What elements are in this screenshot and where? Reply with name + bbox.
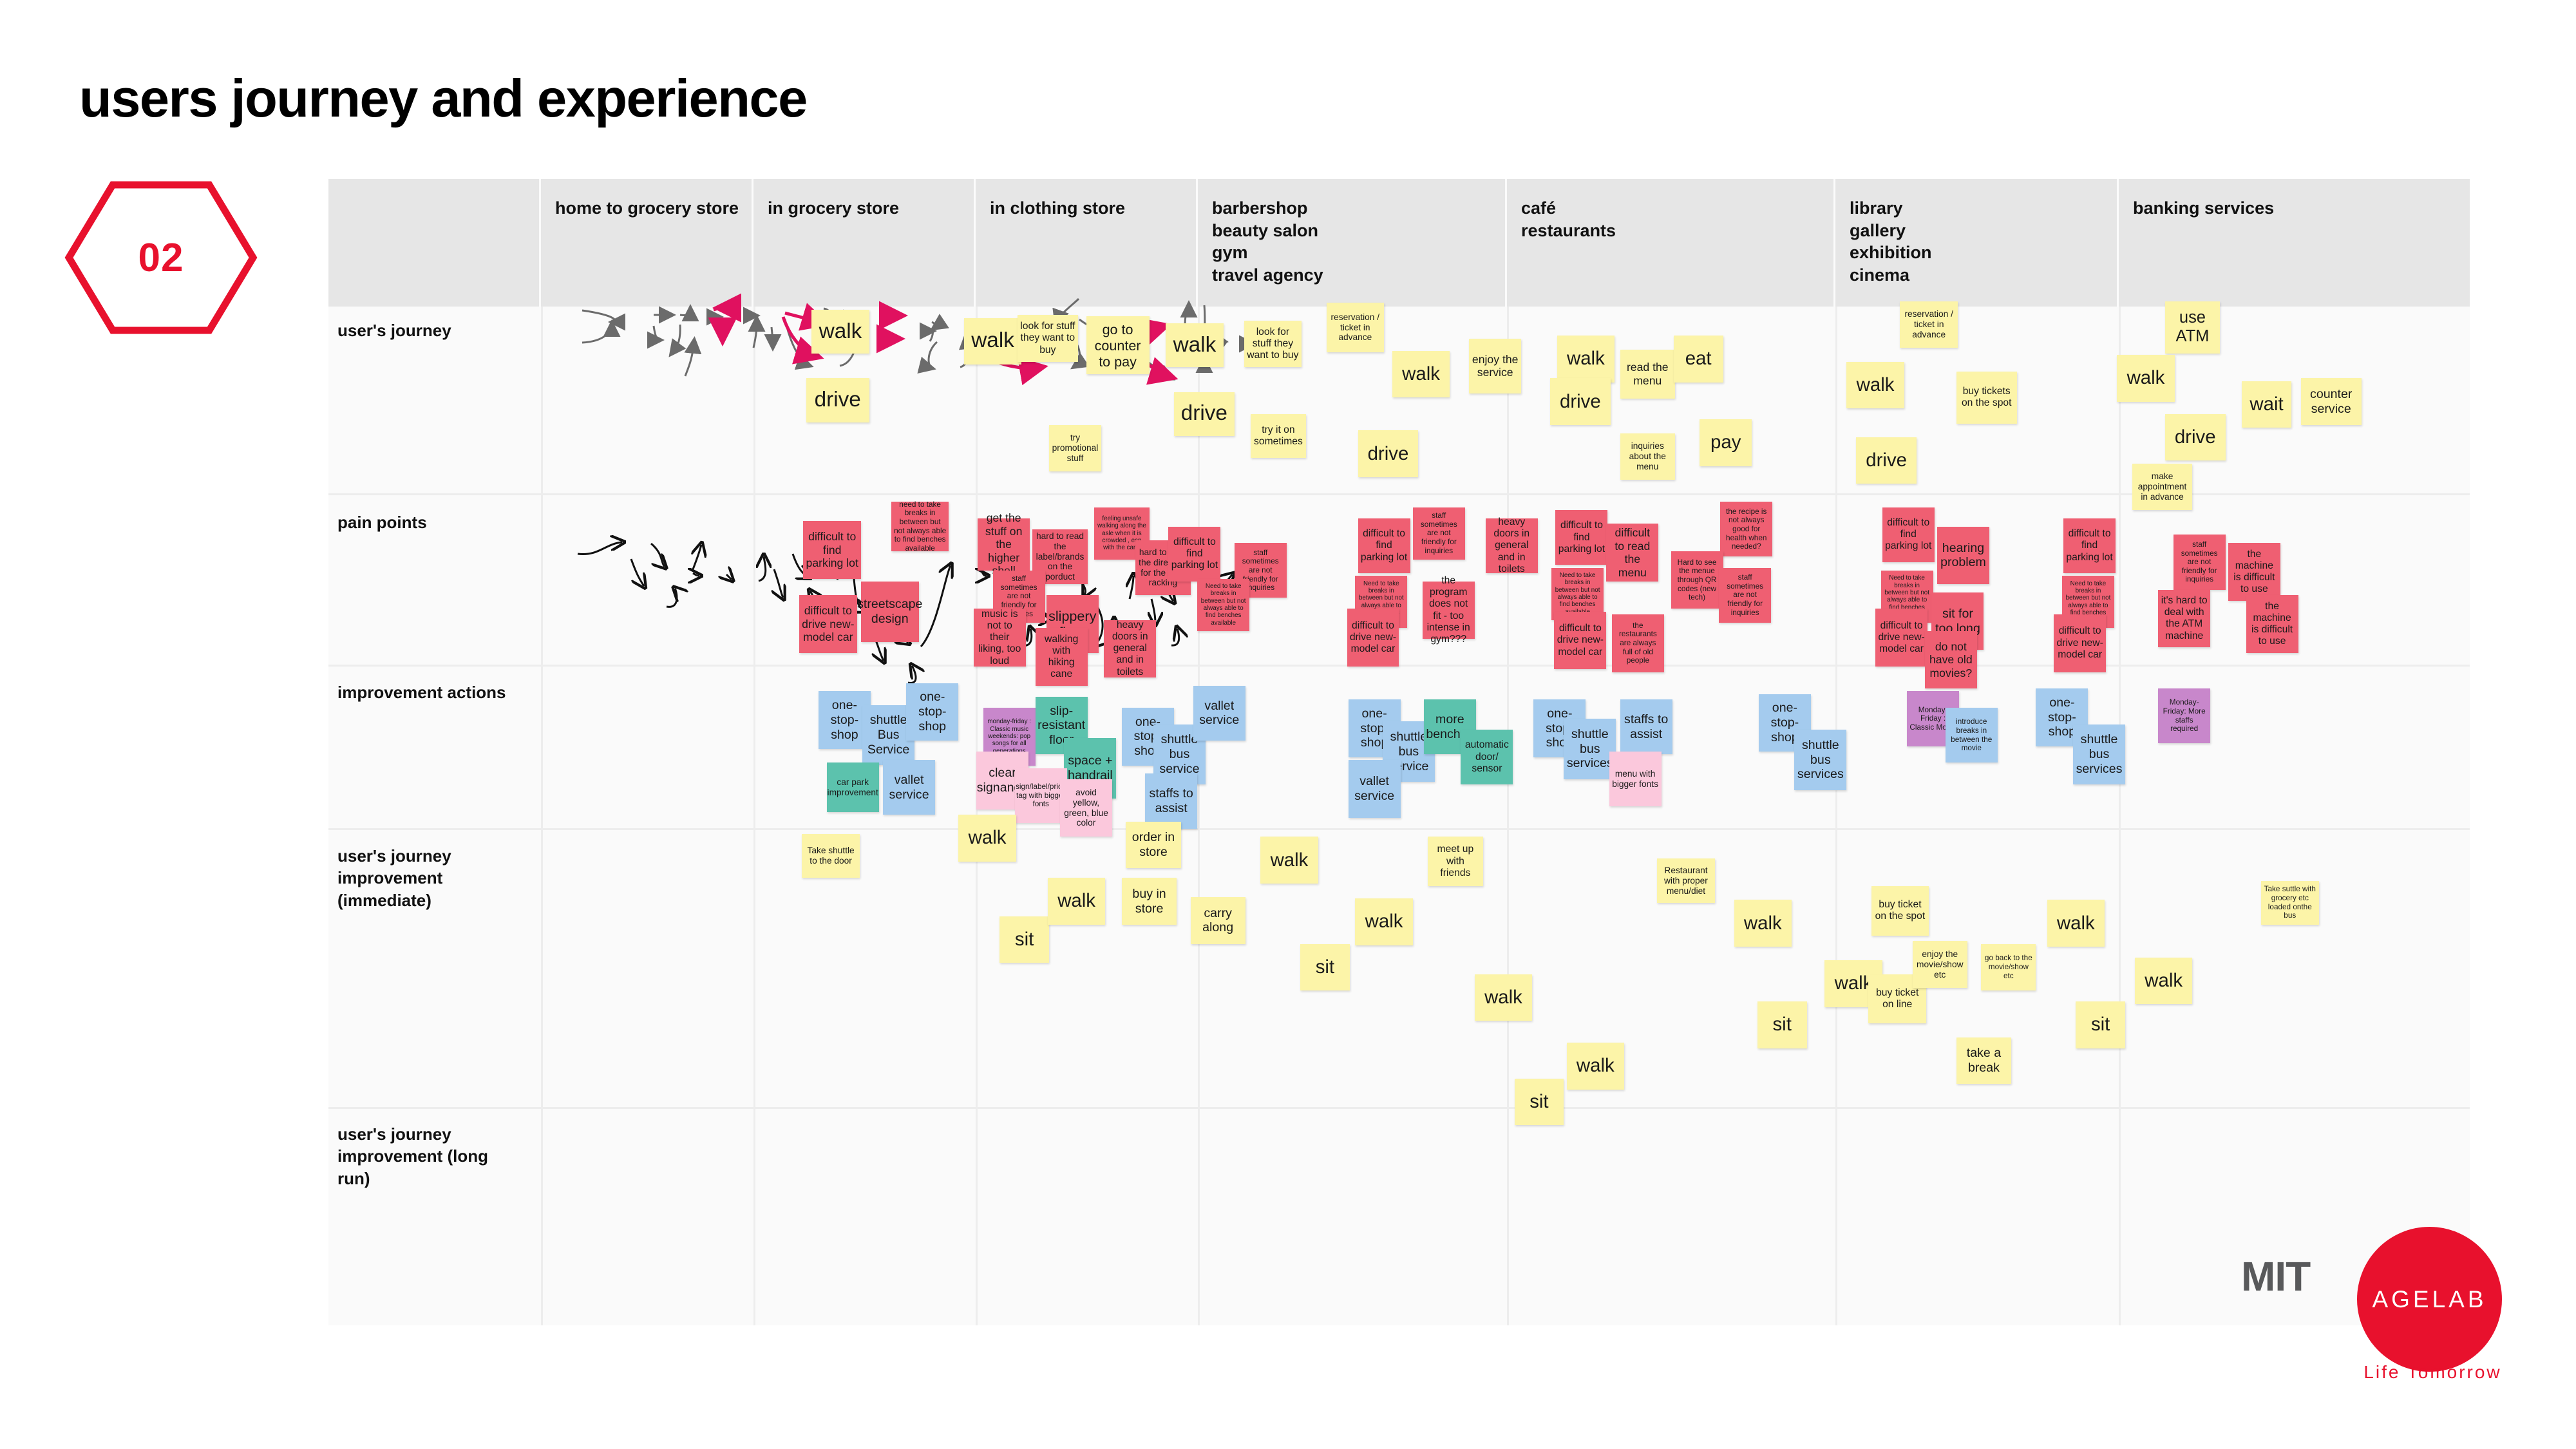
grid-divider (1507, 307, 1509, 1325)
journey-note[interactable]: walk (1166, 323, 1224, 367)
journey-note[interactable]: drive (806, 378, 869, 422)
improvement-note[interactable]: automatic door/ sensor (1461, 730, 1513, 784)
pain-point-note[interactable]: difficult to find parking lot (1168, 527, 1220, 582)
journey-note[interactable]: wait (2242, 381, 2291, 428)
journey-note[interactable]: drive (2165, 414, 2226, 460)
pain-point-note[interactable]: heavy doors in general and in toilets (1104, 620, 1156, 678)
immediate-journey-note[interactable]: sit (1515, 1079, 1564, 1125)
improvement-note[interactable]: shuttle bus services (1794, 730, 1846, 790)
journey-note[interactable]: reservation / ticket in advance (1327, 303, 1385, 352)
page-title: users journey and experience (79, 68, 807, 129)
pain-point-note[interactable]: the machine is difficult to use (2228, 543, 2280, 601)
immediate-journey-note[interactable]: buy in store (1122, 878, 1177, 924)
immediate-journey-note[interactable]: walk (1260, 837, 1318, 883)
section-number: 02 (64, 177, 258, 338)
immediate-journey-note[interactable]: walk (2047, 900, 2105, 946)
section-number-badge: 02 (64, 177, 258, 338)
journey-note[interactable]: drive (1174, 392, 1235, 436)
improvement-note[interactable]: introduce breaks in between the movie (1946, 708, 1998, 762)
improvement-note[interactable]: shuttle bus services (2073, 724, 2125, 785)
improvement-note[interactable]: menu with bigger fonts (1609, 752, 1662, 806)
journey-note[interactable]: inquiries about the menu (1620, 433, 1675, 480)
improvement-note[interactable]: staffs to assist (1620, 699, 1672, 754)
improvement-note[interactable]: shuttle bus services (1564, 719, 1616, 779)
row-label-users-journey: user's journey (337, 319, 531, 341)
pain-point-note[interactable]: difficult to drive new-model car (1875, 609, 1927, 667)
journey-note[interactable]: pay (1700, 419, 1752, 466)
grid-divider (328, 665, 2470, 667)
journey-note[interactable]: go to counter to pay (1086, 316, 1150, 374)
immediate-journey-note[interactable]: Take suttle with grocery etc loaded onth… (2261, 881, 2319, 925)
immediate-journey-note[interactable]: sit (1300, 944, 1350, 990)
journey-note[interactable]: try it on sometimes (1251, 414, 1305, 458)
immediate-journey-note[interactable]: meet up with friends (1428, 837, 1482, 886)
pain-point-note[interactable]: do not have old movies? (1925, 631, 1977, 689)
immediate-journey-note[interactable]: carry along (1191, 897, 1245, 943)
journey-note[interactable]: try promotional stuff (1049, 425, 1101, 471)
row-label-journey-improvement-immediate: user's journeyimprovement(immediate) (337, 845, 531, 911)
pain-point-note[interactable]: hearing problem (1937, 527, 1989, 585)
journey-note[interactable]: buy tickets on the spot (1956, 372, 2017, 424)
pain-point-note[interactable]: streetscape design (861, 582, 919, 642)
journey-note[interactable]: counter service (2301, 378, 2362, 424)
grid-divider (2119, 307, 2121, 1325)
immediate-journey-note[interactable]: walk (1048, 878, 1106, 924)
pain-point-note[interactable]: difficult to drive new-model car (2054, 614, 2106, 672)
pain-point-note[interactable]: staff sometimes are not friendly for inq… (2173, 535, 2226, 589)
immediate-journey-note[interactable]: sit (2076, 1001, 2125, 1048)
pain-point-note[interactable]: difficult to find parking lot (803, 521, 861, 579)
pain-point-note[interactable]: Need to take breaks in between but not a… (1197, 579, 1249, 631)
journey-note[interactable]: walk (811, 310, 869, 354)
immediate-journey-note[interactable]: sit (1757, 1001, 1807, 1048)
row-label-pain-points: pain points (337, 511, 531, 533)
header-cell-blank (328, 179, 541, 307)
journey-note[interactable]: eat (1674, 336, 1723, 382)
pain-point-note[interactable]: staff sometimes are not friendly for inq… (1413, 507, 1465, 560)
pain-point-note[interactable]: difficult to read the menu (1606, 524, 1658, 582)
improvement-note[interactable]: sign/label/price tag with bigger fonts (1015, 768, 1067, 823)
immediate-journey-note[interactable]: walk (1475, 974, 1533, 1021)
pain-point-note[interactable]: difficult to find parking lot (1882, 507, 1935, 562)
immediate-journey-note[interactable]: order in store (1126, 822, 1180, 868)
journey-map-board: home to grocery store in grocery store i… (328, 179, 2470, 1325)
pain-point-note[interactable]: difficult to find parking lot (1555, 510, 1607, 565)
grid-divider (1198, 307, 1200, 1325)
journey-note[interactable]: drive (1550, 378, 1611, 424)
header-cell-in-grocery-store: in grocery store (753, 179, 976, 307)
immediate-journey-note[interactable]: take a break (1956, 1037, 2011, 1084)
grid-divider (1835, 307, 1837, 1325)
immediate-journey-note[interactable]: Restaurant with proper menu/diet (1657, 858, 1715, 902)
pain-point-note[interactable]: staff sometimes are not friendly for inq… (1719, 568, 1771, 623)
journey-note[interactable]: reservation / ticket in advance (1900, 301, 1958, 348)
improvement-note[interactable]: one-stop-shop (906, 683, 958, 741)
pain-point-note[interactable]: the program does not fit - too intense i… (1423, 582, 1475, 639)
immediate-journey-note[interactable]: walk (958, 815, 1016, 861)
pain-point-note[interactable]: music is not to their liking, too loud (974, 609, 1026, 667)
immediate-journey-note[interactable]: Take shuttle to the door (802, 834, 860, 878)
immediate-journey-note[interactable]: go back to the movie/show etc (1981, 944, 2036, 990)
journey-note[interactable]: enjoy the service (1469, 339, 1521, 393)
improvement-note[interactable]: Monday-Friday: More staffs required (2158, 688, 2210, 743)
journey-note[interactable]: look for stuff they want to buy (1244, 321, 1302, 367)
pain-point-note[interactable]: difficult to find parking lot (2063, 518, 2116, 573)
mit-agelab-logo: MIT AGELAB Life Tomorrow (2241, 1227, 2499, 1375)
grid-divider (328, 828, 2470, 830)
pain-point-note[interactable]: difficult to drive new-model car (1347, 609, 1399, 667)
pain-point-note[interactable]: difficult to drive new-model car (799, 595, 857, 653)
immediate-journey-note[interactable]: walk (1734, 900, 1792, 946)
row-label-journey-improvement-long-run: user's journeyimprovement (longrun) (337, 1123, 531, 1189)
header-cell-banking-services: banking services (2119, 179, 2470, 307)
improvement-note[interactable]: vallet service (1193, 686, 1245, 741)
improvement-note[interactable]: staffs to assist (1145, 773, 1197, 828)
header-cell-cafe-restaurants: caférestaurants (1507, 179, 1835, 307)
pain-point-note[interactable]: Hard to see the menue through QR codes (… (1671, 551, 1723, 609)
pain-point-note[interactable]: the recipe is not always good for health… (1720, 502, 1772, 556)
journey-note[interactable]: walk (1557, 336, 1615, 382)
journey-note[interactable]: read the menu (1620, 350, 1675, 399)
board-header-row: home to grocery store in grocery store i… (328, 179, 2470, 307)
pain-point-note[interactable]: the restaurants are always full of old p… (1612, 614, 1664, 672)
immediate-journey-note[interactable]: walk (1355, 898, 1413, 945)
pain-point-note[interactable]: difficult to find parking lot (1358, 518, 1410, 573)
pain-point-note[interactable]: need to take breaks in between but not a… (891, 502, 949, 551)
journey-note[interactable]: make appointment in advance (2132, 464, 2193, 510)
header-cell-home-to-grocery-store: home to grocery store (541, 179, 753, 307)
pain-point-note[interactable]: it's hard to deal with the ATM machine (2158, 590, 2210, 648)
improvement-note[interactable]: avoid yellow, green, blue color (1060, 779, 1112, 837)
grid-divider (541, 307, 543, 1325)
grid-divider (328, 1107, 2470, 1109)
improvement-note[interactable]: vallet service (883, 760, 935, 815)
immediate-journey-note[interactable]: walk (1567, 1043, 1625, 1089)
grid-divider (753, 307, 755, 1325)
logo-mit-text: MIT (2241, 1253, 2310, 1300)
journey-note[interactable]: use ATM (2165, 301, 2220, 354)
journey-note[interactable]: walk (964, 318, 1022, 365)
immediate-journey-note[interactable]: sit (999, 916, 1049, 963)
immediate-journey-note[interactable]: walk (2135, 958, 2193, 1004)
header-cell-in-clothing-store: in clothing store (976, 179, 1198, 307)
logo-tagline: Life Tomorrow (2347, 1362, 2518, 1383)
improvement-note[interactable]: vallet service (1349, 760, 1401, 818)
pain-point-note[interactable]: walking with hiking cane (1036, 628, 1088, 686)
journey-note[interactable]: look for stuff they want to buy (1018, 315, 1078, 361)
journey-note[interactable]: walk (2117, 355, 2175, 401)
journey-note[interactable]: drive (1856, 437, 1917, 484)
pain-point-note[interactable]: get the stuff on the higher shell (978, 518, 1030, 571)
journey-note[interactable]: drive (1358, 430, 1419, 477)
logo-agelab-text: AGELAB (2357, 1227, 2502, 1372)
pain-point-note[interactable]: heavy doors in general and in toilets (1486, 518, 1538, 573)
improvement-note[interactable]: car park improvement (827, 762, 879, 812)
pain-point-note[interactable]: the machine is difficult to use (2246, 595, 2298, 653)
header-cell-barbershop: barbershopbeauty salongymtravel agency (1198, 179, 1507, 307)
immediate-journey-note[interactable]: buy ticket on the spot (1871, 886, 1929, 936)
row-label-improvement-actions: improvement actions (337, 681, 531, 703)
journey-note[interactable]: walk (1846, 362, 1904, 408)
header-cell-library-gallery: librarygalleryexhibitioncinema (1835, 179, 2119, 307)
journey-note[interactable]: walk (1392, 351, 1450, 397)
pain-point-note[interactable]: difficult to drive new-model car (1554, 612, 1606, 670)
immediate-journey-note[interactable]: enjoy the movie/show etc (1913, 941, 1967, 987)
